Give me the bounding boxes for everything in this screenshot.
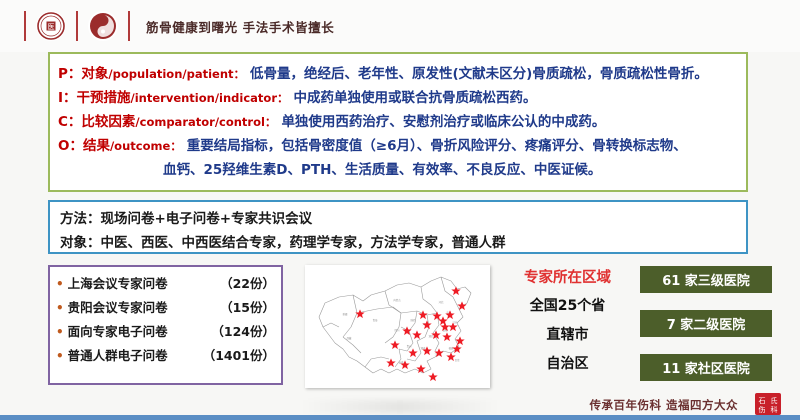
bullet-icon: • (56, 350, 64, 362)
expert-region-line-provinces: 全国25个省 (500, 295, 635, 315)
hospital-count-community: 11 家社区医院 (640, 354, 772, 381)
expert-region-line-autonomous: 自治区 (500, 353, 635, 373)
survey-count: （22份） (214, 273, 275, 292)
institution-seal-logo: 医 (36, 11, 66, 41)
svg-text:河北: 河北 (439, 300, 444, 304)
pico-criteria-box: P：对象/population/patient： 低骨量，绝经后、老年性、原发性… (48, 52, 748, 192)
survey-label: 贵阳会议专家问卷 (68, 297, 168, 316)
svg-text:贵州: 贵州 (407, 344, 412, 348)
svg-text:云南: 云南 (399, 360, 404, 364)
header-title: 筋骨健康到曙光 手法手术皆擅长 (146, 17, 334, 36)
survey-label: 面向专家电子问卷 (68, 321, 168, 340)
svg-text:科: 科 (771, 405, 778, 414)
method-line-subjects: 对象：中医、西医、中西医结合专家，药理学专家，方法学专家，普通人群 (60, 231, 736, 251)
hospital-count-secondary: 7 家二级医院 (640, 310, 772, 337)
bullet-icon: • (56, 278, 64, 290)
pico-line-outcome: O：结果/outcome： 重要结局指标，包括骨密度值（≥6月）、骨折风险评分、… (58, 134, 738, 154)
method-box: 方法：现场问卷+电子问卷+专家共识会议 对象：中医、西医、中西医结合专家，药理学… (48, 200, 748, 254)
red-square-seal-logo: 石 氏 伤 科 (754, 393, 782, 415)
pico-value-population: 低骨量，绝经后、老年性、原发性(文献未区分)骨质疏松，骨质疏松性骨折。 (250, 62, 708, 82)
expert-region-column: 专家所在区域 全国25个省 直辖市 自治区 (500, 266, 635, 382)
hospital-count-tertiary: 61 家三级医院 (640, 266, 772, 293)
pico-value-intervention: 中成药单独使用或联合抗骨质疏松西药。 (294, 86, 537, 106)
pico-line-comparator: C：比较因素/comparator/control： 单独使用西药治疗、安慰剂治… (58, 110, 738, 130)
expert-region-title: 专家所在区域 (500, 266, 635, 287)
bullet-icon: • (56, 326, 64, 338)
survey-label: 上海会议专家问卷 (68, 273, 168, 292)
footer-accent-bar (0, 415, 800, 420)
svg-text:伤: 伤 (759, 405, 766, 414)
survey-label: 普通人群电子问卷 (68, 345, 168, 364)
svg-text:青海: 青海 (373, 318, 378, 322)
header-divider-middle (76, 11, 78, 41)
survey-count: （15份） (214, 297, 275, 316)
method-line-methods: 方法：现场问卷+电子问卷+专家共识会议 (60, 207, 736, 227)
svg-text:新疆: 新疆 (343, 312, 348, 316)
list-item: • 普通人群电子问卷 （1401份） (56, 345, 275, 364)
footer-slogan: 传承百年伤科 造福四方大众 (589, 397, 738, 413)
svg-text:内蒙古: 内蒙古 (393, 298, 401, 302)
svg-text:石: 石 (759, 397, 766, 405)
page-header: 医 筋骨健康到曙光 手法手术皆擅长 (0, 0, 800, 52)
svg-text:台湾: 台湾 (455, 358, 460, 362)
pico-value-comparator: 单独使用西药治疗、安慰剂治疗或临床公认的中成药。 (281, 110, 605, 130)
pico-line-intervention: I：干预措施/intervention/indicator： 中成药单独使用或联… (58, 86, 738, 106)
svg-text:湖南: 湖南 (421, 346, 426, 350)
list-item: • 上海会议专家问卷 （22份） (56, 273, 275, 292)
svg-text:医: 医 (48, 23, 55, 31)
footer-gradient-band (300, 400, 500, 414)
pico-key-comparator: C：比较因素/comparator/control： (58, 110, 276, 130)
pico-key-population: P：对象/population/patient： (58, 62, 245, 82)
pico-key-outcome: O：结果/outcome： (58, 134, 182, 154)
pico-key-intervention: I：干预措施/intervention/indicator： (58, 86, 289, 106)
shuguang-hospital-logo (88, 11, 118, 41)
pico-line-population: P：对象/population/patient： 低骨量，绝经后、老年性、原发性… (58, 62, 738, 82)
svg-text:四川: 四川 (395, 329, 400, 332)
svg-text:陕西: 陕西 (411, 318, 416, 322)
list-item: • 面向专家电子问卷 （124份） (56, 321, 275, 340)
hospital-count-column: 61 家三级医院 7 家二级医院 11 家社区医院 (640, 266, 772, 398)
bullet-icon: • (56, 302, 64, 314)
svg-text:氏: 氏 (771, 396, 778, 405)
survey-count: （124份） (205, 321, 275, 340)
pico-value-outcome-continued: 血钙、25羟维生素D、PTH、生活质量、有效率、不良反应、中医证候。 (163, 158, 738, 178)
header-divider-right (128, 11, 130, 41)
china-map-with-star-markers: 新疆 青海 西藏 内蒙古 四川 陕西 河南 湖北 湖南 贵州 云南 江西 福建 … (305, 265, 490, 388)
header-divider-left (24, 11, 26, 41)
survey-count: （1401份） (197, 345, 275, 364)
page-footer: 传承百年伤科 造福四方大众 石 氏 伤 科 (0, 394, 800, 420)
svg-text:西藏: 西藏 (347, 336, 352, 340)
list-item: • 贵阳会议专家问卷 （15份） (56, 297, 275, 316)
expert-region-line-municipalities: 直辖市 (500, 324, 635, 344)
pico-value-outcome: 重要结局指标，包括骨密度值（≥6月）、骨折风险评分、疼痛评分、骨转换标志物、 (187, 134, 687, 154)
survey-summary-box: • 上海会议专家问卷 （22份） • 贵阳会议专家问卷 （15份） • 面向专家… (48, 265, 283, 385)
